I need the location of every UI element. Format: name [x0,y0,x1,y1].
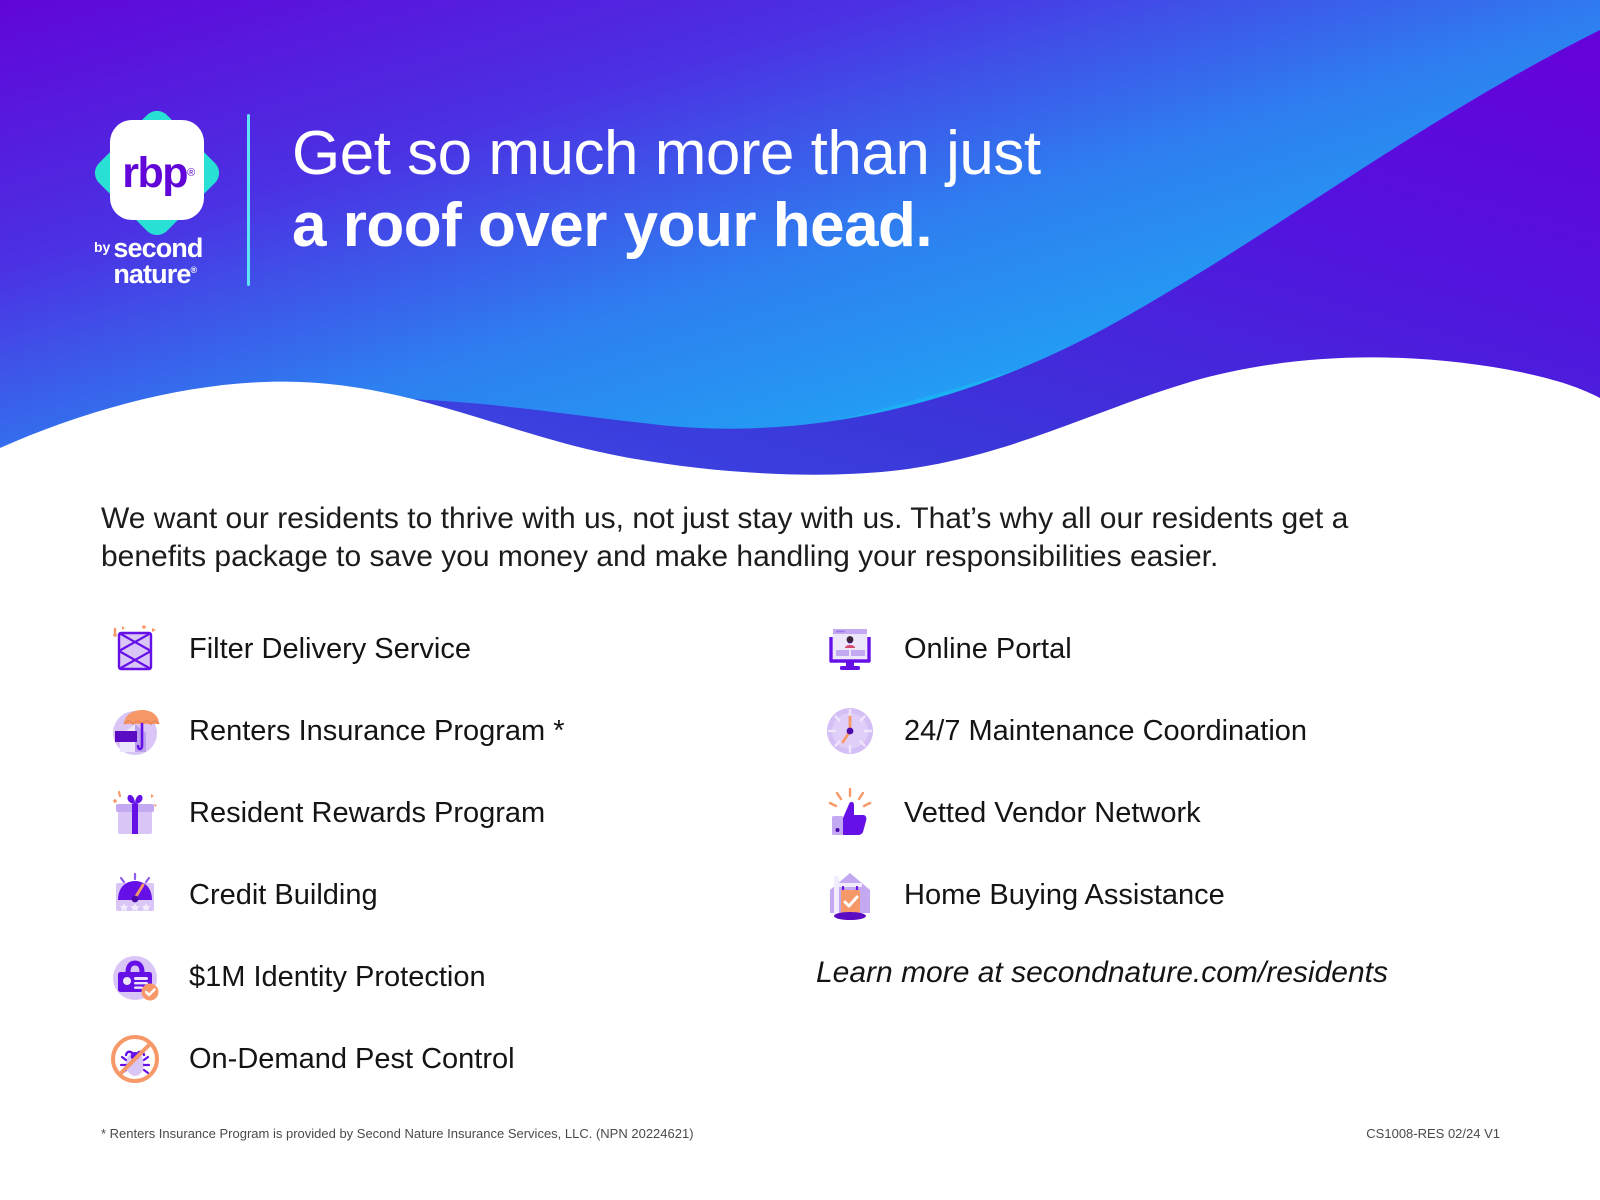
benefit-label: Credit Building [169,879,378,912]
hero-headline: Get so much more than just a roof over y… [292,118,1292,262]
credit-gauge-icon [101,861,169,929]
rbp-logo: rbp® bysecondnature® [96,112,218,287]
benefit-label: Vetted Vendor Network [884,797,1201,830]
benefit-item-identity-protection: $1M Identity Protection [101,936,801,1018]
id-badge-check-icon [101,943,169,1011]
benefits-right-column: Online Portal 24/7 Mai [816,608,1506,936]
intro-paragraph: We want our residents to thrive with us,… [101,500,1441,577]
logo-registered-mark: ® [187,167,194,179]
benefit-item-filter-delivery-service: Filter Delivery Service [101,608,801,690]
hero-banner: rbp® bysecondnature® Get so much more th… [0,0,1600,480]
learn-more-link[interactable]: Learn more at secondnature.com/residents [816,956,1388,990]
benefit-label: Resident Rewards Program [169,797,545,830]
house-checklist-icon [816,861,884,929]
logo-rbp-text: rbp® [96,112,218,234]
logo-nature-word: nature [113,259,190,289]
headline-line-2: a roof over your head. [292,190,1292,262]
footer-doc-code: CS1008-RES 02/24 V1 [1366,1126,1500,1141]
benefit-label: 24/7 Maintenance Coordination [884,715,1307,748]
logo-by-text: by [94,236,113,254]
benefit-item-home-buying-assistance: Home Buying Assistance [816,854,1506,936]
benefit-item-renters-insurance-program: Renters Insurance Program * [101,690,801,772]
thumbs-up-icon [816,779,884,847]
clock-icon [816,697,884,765]
benefit-item-maintenance-coordination: 24/7 Maintenance Coordination [816,690,1506,772]
umbrella-house-icon [101,697,169,765]
benefit-label: Filter Delivery Service [169,633,471,666]
benefit-item-pest-control: On-Demand Pest Control [101,1018,801,1100]
headline-line-1: Get so much more than just [292,118,1292,190]
logo-sn-registered-mark: ® [190,265,196,275]
benefit-label: Online Portal [884,633,1072,666]
benefits-left-column: Filter Delivery Service Renters Insuranc… [101,608,801,1100]
gift-box-icon [101,779,169,847]
benefit-item-credit-building: Credit Building [101,854,801,936]
air-filter-icon [101,615,169,683]
logo-by-second-nature: bysecondnature® [94,236,220,287]
logo-rbp-word: rbp [122,149,187,198]
header-divider [247,114,250,286]
benefit-item-vetted-vendor-network: Vetted Vendor Network [816,772,1506,854]
footer-disclaimer: * Renters Insurance Program is provided … [101,1126,694,1141]
no-pest-icon [101,1025,169,1093]
benefit-label: Renters Insurance Program * [169,715,565,748]
logo-second-nature-text: secondnature® [113,236,202,287]
benefit-label: $1M Identity Protection [169,961,486,994]
monitor-portal-icon [816,615,884,683]
benefit-label: Home Buying Assistance [884,879,1225,912]
benefit-item-online-portal: Online Portal [816,608,1506,690]
rbp-logo-mark: rbp® [96,112,218,234]
benefit-item-resident-rewards-program: Resident Rewards Program [101,772,801,854]
benefit-label: On-Demand Pest Control [169,1043,515,1076]
